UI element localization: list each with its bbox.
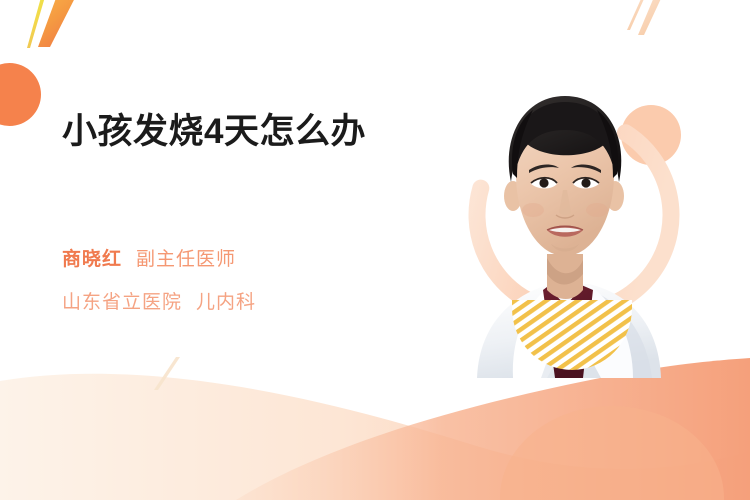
stripe-top-right-a — [638, 0, 665, 35]
doctor-title: 副主任医师 — [136, 246, 236, 275]
doctor-name: 商晓红 — [62, 246, 122, 275]
doctor-department: 儿内科 — [196, 289, 256, 318]
doctor-affiliation-row: 山东省立医院 儿内科 — [62, 289, 462, 318]
doctor-hospital: 山东省立医院 — [62, 289, 182, 318]
doctor-name-row: 商晓红 副主任医师 — [62, 246, 462, 275]
page-title: 小孩发烧4天怎么办 — [62, 110, 452, 154]
striped-half-disc-decoration — [512, 300, 632, 370]
stripe-top-left-orange — [38, 0, 79, 47]
doctor-info-card: 小孩发烧4天怎么办 商晓红 副主任医师 山东省立医院 儿内科 — [0, 0, 750, 500]
headline-block: 小孩发烧4天怎么办 — [62, 110, 452, 154]
doctor-meta-block: 商晓红 副主任医师 山东省立医院 儿内科 — [62, 246, 462, 317]
